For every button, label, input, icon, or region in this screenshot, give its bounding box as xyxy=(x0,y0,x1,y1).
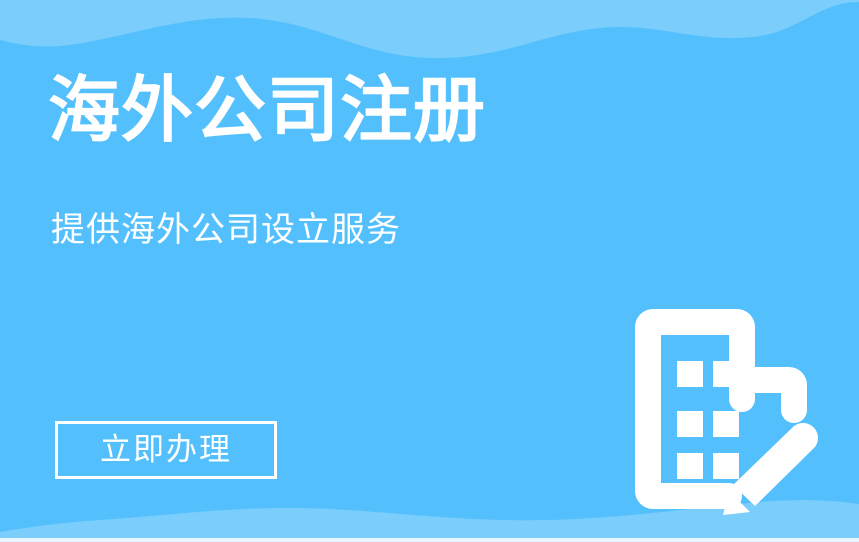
apply-now-button[interactable]: 立即办理 xyxy=(55,421,277,479)
building-edit-icon xyxy=(609,303,821,515)
overseas-company-registration-banner: 海外公司注册 提供海外公司设立服务 立即办理 xyxy=(0,0,859,542)
page-title: 海外公司注册 xyxy=(48,72,486,150)
banner-content: 海外公司注册 提供海外公司设立服务 立即办理 xyxy=(0,0,859,542)
page-subtitle: 提供海外公司设立服务 xyxy=(51,210,401,251)
